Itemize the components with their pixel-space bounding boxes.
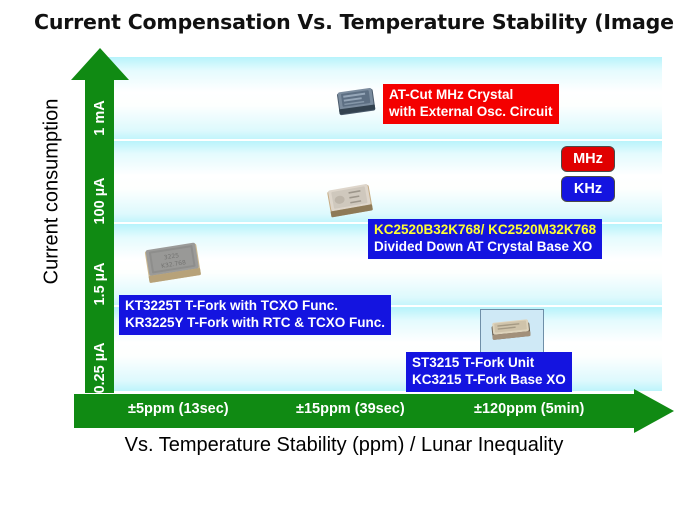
y-axis-title: Current consumption <box>41 77 64 307</box>
callout-at-cut-line-2: with External Osc. Circuit <box>389 104 553 121</box>
st3215-tuning-fork-package-photo <box>480 309 544 355</box>
y-axis-tick-1ma: 1 mA <box>92 89 108 147</box>
callout-at-cut-line-1: AT-Cut MHz Crystal <box>389 87 553 104</box>
callout-st3215-line-2: KC3215 T-Fork Base XO <box>412 372 566 389</box>
y-axis-tick-1p5ua: 1.5 µA <box>92 255 108 313</box>
kt3225-tuning-fork-package-photo: 3225 K32.768 <box>143 240 205 288</box>
slide-canvas: Current Compensation Vs. Temperature Sta… <box>0 0 675 506</box>
y-axis-tick-0p25ua: 0.25 µA <box>92 339 108 397</box>
legend-chip-khz[interactable]: KHz <box>561 176 615 202</box>
callout-kc2520-line-1: KC2520B32K768/ KC2520M32K768 <box>374 222 596 239</box>
y-axis-tick-100ua: 100 µA <box>92 172 108 230</box>
at-cut-mhz-crystal-photo <box>334 85 378 118</box>
x-axis-title: Vs. Temperature Stability (ppm) / Lunar … <box>74 434 614 457</box>
callout-kt3225-line-2: KR3225Y T-Fork with RTC & TCXO Func. <box>125 315 385 332</box>
y-axis-arrow: 1 mA 100 µA 1.5 µA 0.25 µA <box>71 48 129 393</box>
callout-st3215-kc3215-tfork[interactable]: ST3215 T-Fork Unit KC3215 T-Fork Base XO <box>406 352 572 392</box>
callout-kc2520-divided-down[interactable]: KC2520B32K768/ KC2520M32K768 Divided Dow… <box>368 219 602 259</box>
callout-kc2520-line-2: Divided Down AT Crystal Base XO <box>374 239 596 256</box>
x-axis-arrow: ±5ppm (13sec) ±15ppm (39sec) ±120ppm (5m… <box>74 394 674 428</box>
callout-st3215-line-1: ST3215 T-Fork Unit <box>412 355 566 372</box>
x-axis-tick-15ppm: ±15ppm (39sec) <box>296 401 405 417</box>
band-separator <box>101 139 662 141</box>
callout-at-cut-mhz-crystal[interactable]: AT-Cut MHz Crystal with External Osc. Ci… <box>383 84 559 124</box>
kc2520-ceramic-package-photo <box>324 180 376 222</box>
legend-chip-mhz[interactable]: MHz <box>561 146 615 172</box>
callout-kt3225-line-1: KT3225T T-Fork with TCXO Func. <box>125 298 385 315</box>
x-axis-tick-120ppm: ±120ppm (5min) <box>474 401 584 417</box>
page-title: Current Compensation Vs. Temperature Sta… <box>34 10 644 34</box>
callout-kt3225-kr3225-tfork[interactable]: KT3225T T-Fork with TCXO Func. KR3225Y T… <box>119 295 391 335</box>
x-axis-arrowhead <box>634 389 674 433</box>
x-axis-tick-5ppm: ±5ppm (13sec) <box>128 401 229 417</box>
